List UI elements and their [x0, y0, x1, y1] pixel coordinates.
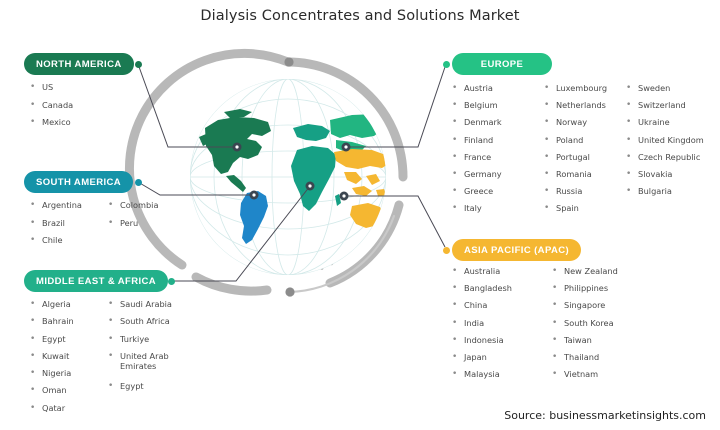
- region-badge-label: NORTH AMERICA: [36, 59, 122, 70]
- bullet-icon: •: [552, 283, 564, 293]
- bullet-icon: •: [452, 266, 464, 276]
- bullet-icon: •: [108, 381, 120, 391]
- bullet-icon: •: [544, 152, 556, 162]
- apac-marker: [340, 192, 349, 201]
- country-column: • Austria • Belgium • Denmark • Finland …: [452, 83, 544, 221]
- country-label: United Kingdom: [638, 135, 704, 145]
- country-item: • Japan: [452, 352, 552, 369]
- country-label: Qatar: [42, 403, 65, 413]
- country-item: • India: [452, 318, 552, 335]
- country-label: Portugal: [556, 152, 590, 162]
- country-item: • Norway: [544, 117, 626, 134]
- country-label: Belgium: [464, 100, 498, 110]
- country-item: • Chile: [30, 235, 108, 253]
- country-label: Algeria: [42, 299, 71, 309]
- country-label: Brazil: [42, 218, 65, 228]
- country-label: Saudi Arabia: [120, 299, 172, 309]
- country-label: Mexico: [42, 117, 71, 127]
- bullet-icon: •: [30, 200, 42, 210]
- bullet-icon: •: [452, 169, 464, 179]
- country-item: • Mexico: [30, 117, 73, 135]
- bullet-icon: •: [552, 318, 564, 328]
- bullet-icon: •: [452, 318, 464, 328]
- region-badge-europe[interactable]: EUROPE: [452, 53, 552, 75]
- country-item: • Taiwan: [552, 335, 618, 352]
- country-item: • Oman: [30, 385, 108, 402]
- bullet-icon: •: [30, 299, 42, 309]
- country-item: • Slovakia: [626, 169, 704, 186]
- country-column: • US • Canada • Mexico: [30, 82, 73, 135]
- country-item: • Philippines: [552, 283, 618, 300]
- bullet-icon: •: [452, 369, 464, 379]
- country-item: • France: [452, 152, 544, 169]
- country-label: Vietnam: [564, 369, 598, 379]
- country-label: Netherlands: [556, 100, 606, 110]
- region-badge-north-america[interactable]: NORTH AMERICA: [24, 53, 134, 75]
- bullet-icon: •: [626, 152, 638, 162]
- bullet-icon: •: [30, 334, 42, 344]
- country-label: Bahrain: [42, 316, 74, 326]
- bullet-icon: •: [552, 335, 564, 345]
- country-label: Ukraine: [638, 117, 670, 127]
- connector-south-america: [138, 182, 254, 195]
- country-item: • Luxembourg: [544, 83, 626, 100]
- landmass-new-zealand: [391, 224, 399, 239]
- bullet-icon: •: [544, 203, 556, 213]
- connector-lines: [138, 64, 446, 281]
- country-label: Poland: [556, 135, 583, 145]
- country-item: • Malaysia: [452, 369, 552, 386]
- country-column: • Colombia • Peru: [108, 200, 158, 253]
- country-label: Oman: [42, 385, 67, 395]
- infographic-root: Dialysis Concentrates and Solutions Mark…: [0, 0, 720, 430]
- country-label: South Korea: [564, 318, 614, 328]
- country-label: New Zealand: [564, 266, 618, 276]
- bullet-icon: •: [108, 334, 120, 344]
- north-america-badge-dot: [135, 61, 142, 68]
- country-label: Slovakia: [638, 169, 672, 179]
- bullet-icon: •: [108, 299, 120, 309]
- country-item: • Vietnam: [552, 369, 618, 386]
- country-label: France: [464, 152, 491, 162]
- connector-middle-east-africa: [171, 186, 310, 281]
- country-item: • Bahrain: [30, 316, 108, 333]
- landmass-southeast-asia: [352, 186, 386, 196]
- bullet-icon: •: [452, 152, 464, 162]
- bullet-icon: •: [108, 218, 120, 228]
- landmass-central-america: [226, 175, 246, 192]
- south-america-badge-dot: [135, 179, 142, 186]
- bullet-icon: •: [544, 83, 556, 93]
- bullet-icon: •: [452, 186, 464, 196]
- globe-grid: [190, 79, 386, 275]
- country-item: • Bulgaria: [626, 186, 704, 203]
- country-label: United Arab Emirates: [120, 351, 182, 371]
- country-label: Austria: [464, 83, 493, 93]
- bullet-icon: •: [452, 100, 464, 110]
- landmass-south-america: [240, 191, 268, 244]
- country-item: • Bangladesh: [452, 283, 552, 300]
- africa-marker: [306, 182, 315, 191]
- country-item: • Saudi Arabia: [108, 299, 182, 316]
- bullet-icon: •: [544, 169, 556, 179]
- landmass-australia: [350, 203, 384, 228]
- bullet-icon: •: [544, 186, 556, 196]
- bullet-icon: •: [626, 186, 638, 196]
- bullet-icon: •: [544, 117, 556, 127]
- country-label: Turkiye: [120, 334, 149, 344]
- bullet-icon: •: [552, 369, 564, 379]
- region-country-list-europe: • Austria • Belgium • Denmark • Finland …: [452, 83, 704, 221]
- middle-east-africa-badge-dot: [168, 278, 175, 285]
- country-item: • South Korea: [552, 318, 618, 335]
- country-item: • Switzerland: [626, 100, 704, 117]
- country-item: • Russia: [544, 186, 626, 203]
- country-item: • Czech Republic: [626, 152, 704, 169]
- bullet-icon: •: [452, 135, 464, 145]
- country-item: • Egypt: [30, 334, 108, 351]
- country-label: Japan: [464, 352, 487, 362]
- landmass-europe: [293, 124, 330, 141]
- country-column: • Sweden • Switzerland • Ukraine • Unite…: [626, 83, 704, 221]
- country-label: Egypt: [42, 334, 66, 344]
- country-item: • Australia: [452, 266, 552, 283]
- country-item: • Portugal: [544, 152, 626, 169]
- country-label: Indonesia: [464, 335, 504, 345]
- country-label: Colombia: [120, 200, 158, 210]
- country-label: China: [464, 300, 487, 310]
- country-label: Taiwan: [564, 335, 592, 345]
- bullet-icon: •: [30, 351, 42, 361]
- country-item: • Algeria: [30, 299, 108, 316]
- bullet-icon: •: [30, 82, 42, 92]
- bullet-icon: •: [552, 352, 564, 362]
- country-label: Egypt: [120, 381, 144, 391]
- bullet-icon: •: [30, 117, 42, 127]
- country-label: Nigeria: [42, 368, 71, 378]
- country-label: Greece: [464, 186, 493, 196]
- bullet-icon: •: [626, 135, 638, 145]
- country-item: • Germany: [452, 169, 544, 186]
- bullet-icon: •: [452, 203, 464, 213]
- country-item: • Indonesia: [452, 335, 552, 352]
- bullet-icon: •: [108, 351, 120, 361]
- country-label: US: [42, 82, 53, 92]
- country-column: • New Zealand • Philippines • Singapore …: [552, 266, 618, 386]
- country-label: Peru: [120, 218, 138, 228]
- country-label: Philippines: [564, 283, 608, 293]
- country-label: Argentina: [42, 200, 82, 210]
- country-item: • Ukraine: [626, 117, 704, 134]
- region-badge-middle-east-africa[interactable]: MIDDLE EAST & AFRICA: [24, 270, 168, 292]
- asia-pacific-badge-dot: [443, 247, 450, 254]
- europe-badge-dot: [443, 61, 450, 68]
- country-label: South Africa: [120, 316, 170, 326]
- country-label: Malaysia: [464, 369, 500, 379]
- landmass-northern-asia: [330, 114, 402, 152]
- bullet-icon: •: [452, 300, 464, 310]
- landmass-north-america: [199, 109, 271, 174]
- country-item: • Spain: [544, 203, 626, 220]
- country-item: • Turkiye: [108, 334, 182, 351]
- country-label: Germany: [464, 169, 502, 179]
- region-country-list-middle-east-africa: • Algeria • Bahrain • Egypt • Kuwait • N…: [30, 299, 182, 420]
- country-item: • United Arab Emirates: [108, 351, 182, 381]
- region-badge-label: ASIA PACIFIC (APAC): [464, 245, 569, 256]
- country-label: Bulgaria: [638, 186, 672, 196]
- connector-asia-pacific: [344, 196, 445, 247]
- country-item: • Denmark: [452, 117, 544, 134]
- globe-outer-ring: [129, 53, 403, 296]
- connector-europe: [346, 64, 446, 147]
- country-item: • Greece: [452, 186, 544, 203]
- bullet-icon: •: [30, 385, 42, 395]
- region-badge-south-america[interactable]: SOUTH AMERICA: [24, 171, 133, 193]
- bullet-icon: •: [552, 266, 564, 276]
- country-label: Czech Republic: [638, 152, 700, 162]
- bullet-icon: •: [108, 316, 120, 326]
- country-label: India: [464, 318, 484, 328]
- europe-marker: [342, 143, 351, 152]
- country-item: • Romania: [544, 169, 626, 186]
- country-label: Kuwait: [42, 351, 69, 361]
- landmass-asia-pacific: [334, 149, 390, 185]
- country-label: Finland: [464, 135, 493, 145]
- bullet-icon: •: [626, 83, 638, 93]
- source-attribution: Source: businessmarketinsights.com: [504, 409, 706, 422]
- region-badge-label: SOUTH AMERICA: [36, 177, 121, 188]
- bullet-icon: •: [544, 135, 556, 145]
- region-country-list-asia-pacific: • Australia • Bangladesh • China • India…: [452, 266, 618, 386]
- country-label: Thailand: [564, 352, 599, 362]
- country-label: Singapore: [564, 300, 605, 310]
- country-column: • Australia • Bangladesh • China • India…: [452, 266, 552, 386]
- country-column: • Luxembourg • Netherlands • Norway • Po…: [544, 83, 626, 221]
- country-item: • South Africa: [108, 316, 182, 333]
- country-label: Russia: [556, 186, 582, 196]
- bullet-icon: •: [452, 83, 464, 93]
- country-label: Sweden: [638, 83, 670, 93]
- bullet-icon: •: [108, 200, 120, 210]
- country-item: • Kuwait: [30, 351, 108, 368]
- country-item: • Poland: [544, 135, 626, 152]
- country-item: • Egypt: [108, 381, 182, 398]
- country-label: Switzerland: [638, 100, 686, 110]
- bullet-icon: •: [30, 368, 42, 378]
- connector-north-america: [138, 64, 237, 147]
- country-label: Canada: [42, 100, 73, 110]
- country-item: • Belgium: [452, 100, 544, 117]
- bullet-icon: •: [452, 352, 464, 362]
- country-item: • Italy: [452, 203, 544, 220]
- region-badge-asia-pacific[interactable]: ASIA PACIFIC (APAC): [452, 239, 581, 261]
- country-label: Spain: [556, 203, 579, 213]
- country-label: Denmark: [464, 117, 502, 127]
- country-label: Romania: [556, 169, 592, 179]
- country-item: • Colombia: [108, 200, 158, 218]
- country-label: Chile: [42, 235, 63, 245]
- country-item: • New Zealand: [552, 266, 618, 283]
- country-item: • Sweden: [626, 83, 704, 100]
- country-item: • Qatar: [30, 403, 108, 420]
- country-item: • US: [30, 82, 73, 100]
- country-item: • Argentina: [30, 200, 108, 218]
- bullet-icon: •: [452, 283, 464, 293]
- page-title: Dialysis Concentrates and Solutions Mark…: [0, 8, 720, 24]
- map-markers: [233, 143, 351, 201]
- bullet-icon: •: [544, 100, 556, 110]
- landmass-africa: [291, 146, 336, 211]
- country-item: • Thailand: [552, 352, 618, 369]
- country-item: • Brazil: [30, 218, 108, 236]
- country-item: • Austria: [452, 83, 544, 100]
- country-item: • Nigeria: [30, 368, 108, 385]
- country-item: • Canada: [30, 100, 73, 118]
- country-label: Luxembourg: [556, 83, 607, 93]
- landmass-madagascar: [335, 194, 341, 206]
- country-item: • Finland: [452, 135, 544, 152]
- bullet-icon: •: [30, 316, 42, 326]
- country-column: • Algeria • Bahrain • Egypt • Kuwait • N…: [30, 299, 108, 420]
- bullet-icon: •: [30, 403, 42, 413]
- country-label: Norway: [556, 117, 587, 127]
- bullet-icon: •: [452, 117, 464, 127]
- region-country-list-north-america: • US • Canada • Mexico: [30, 82, 73, 135]
- bullet-icon: •: [30, 235, 42, 245]
- bullet-icon: •: [30, 100, 42, 110]
- region-badge-label: EUROPE: [481, 59, 524, 70]
- world-landmasses: [199, 109, 402, 244]
- country-item: • Netherlands: [544, 100, 626, 117]
- bullet-icon: •: [626, 117, 638, 127]
- bullet-icon: •: [626, 169, 638, 179]
- country-label: Bangladesh: [464, 283, 512, 293]
- region-badge-label: MIDDLE EAST & AFRICA: [36, 276, 156, 287]
- bullet-icon: •: [30, 218, 42, 228]
- country-label: Italy: [464, 203, 482, 213]
- south-america-marker: [250, 191, 259, 200]
- bullet-icon: •: [626, 100, 638, 110]
- country-item: • Peru: [108, 218, 158, 236]
- country-item: • United Kingdom: [626, 135, 704, 152]
- country-label: Australia: [464, 266, 500, 276]
- bullet-icon: •: [552, 300, 564, 310]
- country-column: • Saudi Arabia • South Africa • Turkiye …: [108, 299, 182, 420]
- region-country-list-south-america: • Argentina • Brazil • Chile • Colombia …: [30, 200, 158, 253]
- bullet-icon: •: [452, 335, 464, 345]
- north-america-marker: [233, 143, 242, 152]
- country-item: • Singapore: [552, 300, 618, 317]
- country-item: • China: [452, 300, 552, 317]
- country-column: • Argentina • Brazil • Chile: [30, 200, 108, 253]
